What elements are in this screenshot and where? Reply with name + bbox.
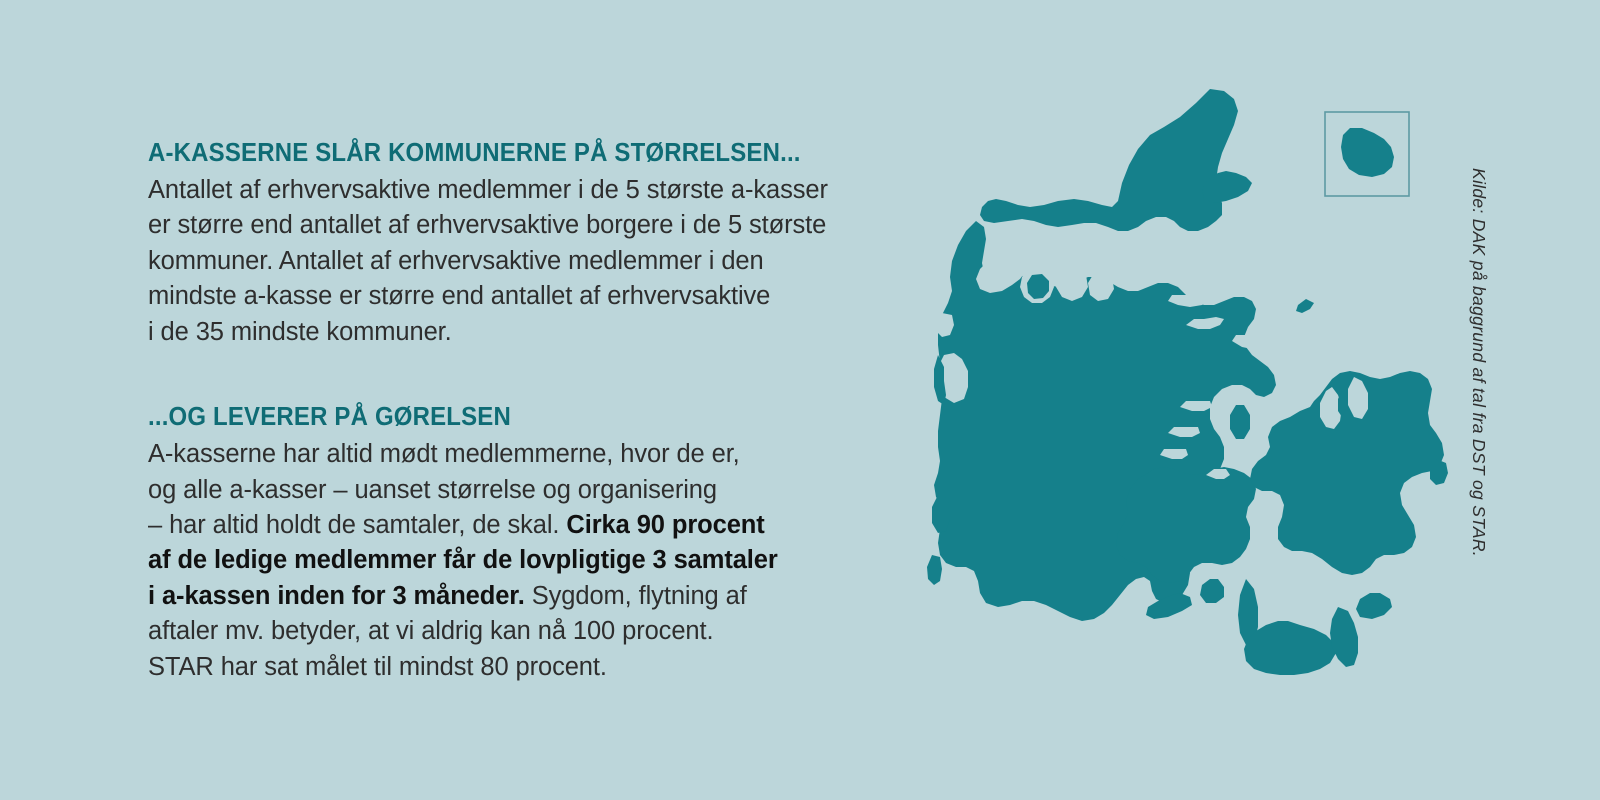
block-2-emphasis-line-1: Cirka 90 procent xyxy=(566,511,764,539)
block-1-line-1: Antallet af erhvervsaktive medlemmer i d… xyxy=(148,173,908,208)
island-mon xyxy=(1356,593,1392,619)
block-2-emphasis-line-2: af de ledige medlemmer får de lovpligtig… xyxy=(148,546,778,574)
island-anholt xyxy=(1296,299,1314,313)
island-falster xyxy=(1330,607,1358,667)
block-1-body: Antallet af erhvervsaktive medlemmer i d… xyxy=(148,173,908,350)
block-2-emphasis-line-3: i a-kassen inden for 3 måneder. xyxy=(148,582,525,610)
island-aero xyxy=(1146,593,1192,619)
denmark-map-svg xyxy=(880,55,1480,735)
block-2-heading: ...OG LEVERER PÅ GØRELSEN xyxy=(148,402,862,432)
block-2-line-3-plain: – har altid holdt de samtaler, de skal. xyxy=(148,511,559,539)
block-2-line-4: af de ledige medlemmer får de lovpligtig… xyxy=(148,543,908,578)
block-2-line-5: i a-kassen inden for 3 måneder. Sygdom, … xyxy=(148,579,908,614)
block-1-line-4: mindste a-kasse er større end antallet a… xyxy=(148,279,908,314)
block-2-line-7: STAR har sat målet til mindst 80 procent… xyxy=(148,650,908,685)
block-2-line-5-plain: Sygdom, flytning af xyxy=(532,582,747,610)
island-samso xyxy=(1230,405,1250,439)
island-tasinge xyxy=(1200,579,1224,603)
island-lolland xyxy=(1244,621,1336,675)
block-2-body: A-kasserne har altid mødt medlemmerne, h… xyxy=(148,437,908,685)
infographic-canvas: A-KASSERNE SLÅR KOMMUNERNE PÅ STØRRELSEN… xyxy=(0,0,1600,800)
block-1-heading: A-KASSERNE SLÅR KOMMUNERNE PÅ STØRRELSEN… xyxy=(148,138,862,168)
island-romo xyxy=(927,555,942,585)
block-2-line-2: og alle a-kasser – uanset størrelse og o… xyxy=(148,473,908,508)
text-column: A-KASSERNE SLÅR KOMMUNERNE PÅ STØRRELSEN… xyxy=(148,138,908,685)
text-block-2: ...OG LEVERER PÅ GØRELSEN A-kasserne har… xyxy=(148,402,908,685)
block-1-line-2: er større end antallet af erhvervsaktive… xyxy=(148,208,908,243)
block-2-line-3: – har altid holdt de samtaler, de skal. … xyxy=(148,508,908,543)
block-2-line-6: aftaler mv. betyder, at vi aldrig kan nå… xyxy=(148,614,908,649)
island-bornholm xyxy=(1341,128,1394,177)
region-vendsyssel xyxy=(980,89,1238,231)
block-2-line-1: A-kasserne har altid mødt medlemmerne, h… xyxy=(148,437,908,472)
block-1-line-5: i de 35 mindste kommuner. xyxy=(148,315,908,350)
denmark-map xyxy=(880,55,1480,735)
block-1-line-3: kommuner. Antallet af erhvervsaktive med… xyxy=(148,244,908,279)
text-block-1: A-KASSERNE SLÅR KOMMUNERNE PÅ STØRRELSEN… xyxy=(148,138,908,350)
region-sjaelland xyxy=(1250,371,1444,575)
